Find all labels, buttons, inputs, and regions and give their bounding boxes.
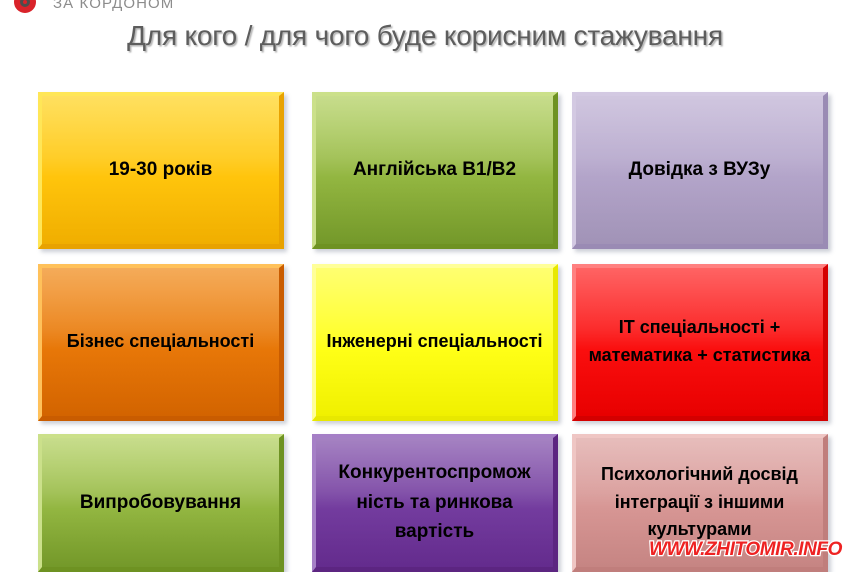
tile-university-certificate: Довідка з ВУЗу bbox=[572, 92, 828, 249]
tile-english-level: Англійська B1/B2 bbox=[312, 92, 558, 249]
site-watermark: WWW.ZHITOMIR.INFO bbox=[649, 539, 842, 561]
tile-business-majors: Бізнес спеціальності bbox=[38, 264, 284, 421]
tile-label: Англійська B1/B2 bbox=[353, 155, 516, 184]
target-circle-logo-icon bbox=[14, 0, 36, 13]
tile-competitiveness-market-value: Конкурентоспромож ність та ринкова варті… bbox=[312, 434, 558, 572]
tile-engineering-majors: Інженерні спеціальності bbox=[312, 264, 558, 421]
brand-header: ЗА КОРДОНОМ bbox=[0, 0, 850, 14]
page-title: Для кого / для чого буде корисним стажув… bbox=[0, 20, 850, 52]
tile-it-math-statistics: IT спеціальності + математика + статисти… bbox=[572, 264, 828, 421]
tile-grid: 19-30 років Англійська B1/B2 Довідка з В… bbox=[38, 92, 828, 572]
tile-label: Інженерні спеціальності bbox=[326, 328, 542, 356]
tile-label: 19-30 років bbox=[109, 155, 213, 184]
tile-label: Довідка з ВУЗу bbox=[629, 155, 771, 184]
tile-label: Психологічний досвід інтеграції з іншими… bbox=[586, 461, 813, 545]
tile-age-range: 19-30 років bbox=[38, 92, 284, 249]
brand-name-label: ЗА КОРДОНОМ bbox=[53, 0, 174, 12]
tile-label: IT спеціальності + математика + статисти… bbox=[586, 314, 813, 370]
tile-probation: Випробовування bbox=[38, 434, 284, 572]
tile-label: Бізнес спеціальності bbox=[67, 328, 254, 356]
tile-label: Конкурентоспромож ність та ринкова варті… bbox=[326, 458, 543, 546]
tile-label: Випробовування bbox=[80, 488, 241, 517]
